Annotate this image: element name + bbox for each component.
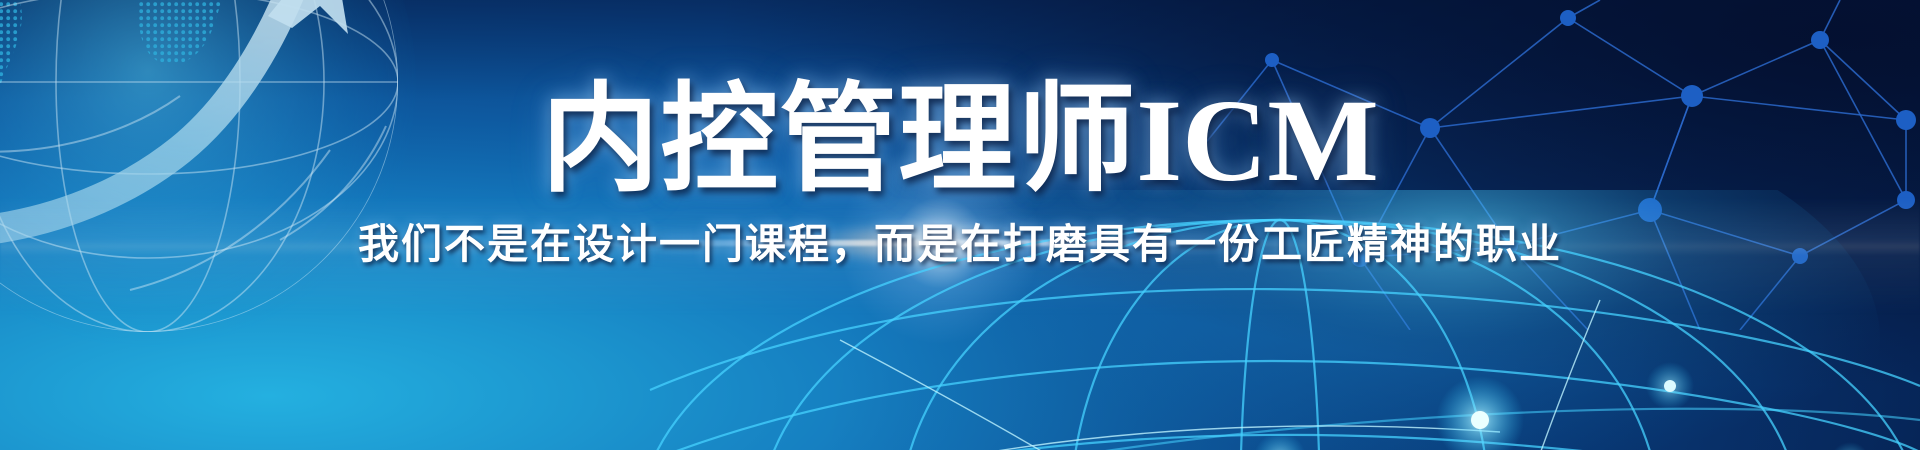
promo-banner: 内控管理师ICM 我们不是在设计一门课程，而是在打磨具有一份工匠精神的职业: [0, 0, 1920, 450]
title-latin: ICM: [1136, 75, 1379, 206]
title-chinese: 内控管理师: [541, 69, 1136, 208]
banner-content: 内控管理师ICM 我们不是在设计一门课程，而是在打磨具有一份工匠精神的职业: [0, 0, 1920, 450]
page-title: 内控管理师ICM: [541, 76, 1379, 203]
page-subtitle: 我们不是在设计一门课程，而是在打磨具有一份工匠精神的职业: [358, 221, 1562, 268]
